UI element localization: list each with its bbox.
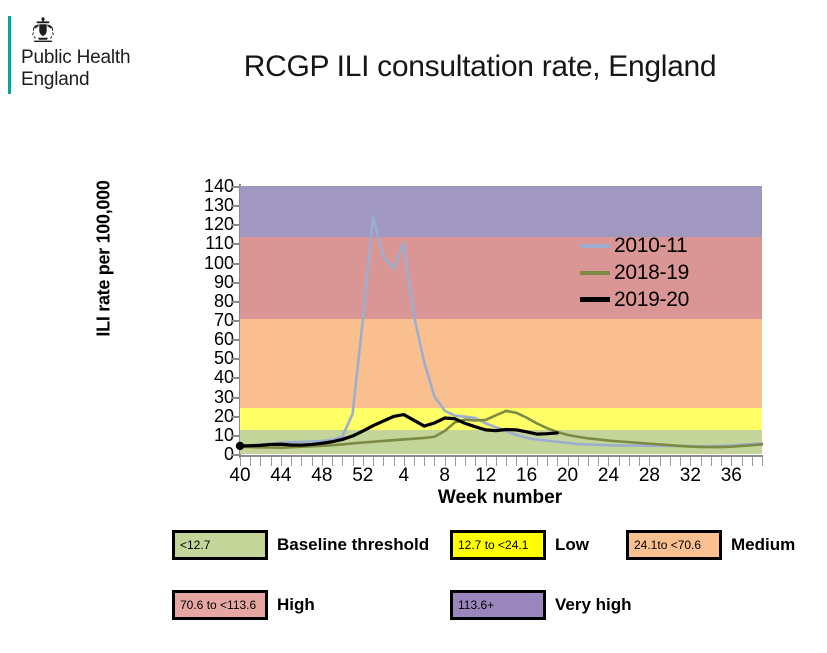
- x-axis-title: Week number: [240, 487, 760, 509]
- plot-area: [240, 186, 762, 454]
- y-tick-label: 70: [182, 311, 234, 329]
- key-range-label: 113.6+: [453, 598, 494, 612]
- key-item-medium: 24.1to <70.6Medium: [626, 530, 795, 560]
- key-name-label: Baseline threshold: [277, 535, 429, 555]
- key-name-label: Very high: [555, 595, 632, 615]
- y-tick-label: 120: [182, 215, 234, 233]
- y-tick-mark: [232, 416, 240, 418]
- y-tick-label: 110: [182, 234, 234, 252]
- y-axis-tick-labels: 1401301201101009080706050403020100: [182, 176, 234, 466]
- y-tick-label: 90: [182, 273, 234, 291]
- x-tick-label: 16: [507, 465, 547, 487]
- y-tick-mark: [232, 358, 240, 360]
- key-range-label: 24.1to <70.6: [629, 538, 701, 552]
- key-name-label: Medium: [731, 535, 795, 555]
- x-tick-label: 4: [384, 465, 424, 487]
- x-tick-label: 52: [343, 465, 383, 487]
- ili-consultation-rate-chart: ILI rate per 100,000 Week number 1401301…: [0, 0, 827, 520]
- key-swatch-high: 70.6 to <113.6: [172, 590, 268, 620]
- y-tick-label: 140: [182, 177, 234, 195]
- y-tick-mark: [232, 397, 240, 399]
- legend-swatch-2010-11: [580, 244, 610, 248]
- key-name-label: Low: [555, 535, 589, 555]
- y-tick-mark: [232, 186, 240, 188]
- y-tick-label: 130: [182, 196, 234, 214]
- y-tick-mark: [232, 377, 240, 379]
- y-axis-title: ILI rate per 100,000: [94, 149, 115, 369]
- key-swatch-low: 12.7 to <24.1: [450, 530, 546, 560]
- y-tick-mark: [232, 224, 240, 226]
- x-tick-label: 40: [220, 465, 260, 487]
- y-tick-mark: [232, 205, 240, 207]
- x-tick-label: 24: [588, 465, 628, 487]
- y-tick-mark: [232, 263, 240, 265]
- legend-swatch-2019-20: [580, 297, 610, 302]
- x-axis-line: [239, 455, 763, 457]
- y-tick-mark: [232, 435, 240, 437]
- series-layer: [240, 186, 762, 454]
- y-tick-label: 100: [182, 254, 234, 272]
- legend-item-2010-11: 2010-11: [580, 232, 750, 259]
- x-tick-label: 20: [548, 465, 588, 487]
- key-swatch-baseline-threshold: <12.7: [172, 530, 268, 560]
- key-range-label: 12.7 to <24.1: [453, 538, 528, 552]
- x-tick-label: 36: [711, 465, 751, 487]
- key-range-label: 70.6 to <113.6: [175, 598, 256, 612]
- y-tick-label: 40: [182, 368, 234, 386]
- key-item-low: 12.7 to <24.1Low: [450, 530, 589, 560]
- legend-item-2019-20: 2019-20: [580, 286, 750, 313]
- legend-item-2018-19: 2018-19: [580, 259, 750, 286]
- y-tick-mark: [232, 454, 240, 456]
- series-marker-2019-20: [236, 442, 244, 450]
- y-tick-mark: [232, 339, 240, 341]
- chart-legend: 2010-112018-192019-20: [580, 232, 750, 313]
- key-name-label: High: [277, 595, 315, 615]
- x-tick-mark: [762, 457, 763, 466]
- y-tick-label: 10: [182, 426, 234, 444]
- y-tick-mark: [232, 301, 240, 303]
- y-tick-label: 0: [182, 445, 234, 463]
- x-tick-label: 8: [425, 465, 465, 487]
- x-tick-mark: [752, 457, 753, 466]
- key-item-very-high: 113.6+Very high: [450, 590, 632, 620]
- y-tick-label: 60: [182, 330, 234, 348]
- legend-label: 2019-20: [614, 288, 689, 312]
- key-item-high: 70.6 to <113.6High: [172, 590, 315, 620]
- y-tick-label: 20: [182, 407, 234, 425]
- key-swatch-very-high: 113.6+: [450, 590, 546, 620]
- x-tick-label: 12: [466, 465, 506, 487]
- legend-label: 2018-19: [614, 261, 689, 285]
- y-tick-mark: [232, 243, 240, 245]
- y-tick-mark: [232, 320, 240, 322]
- x-tick-label: 44: [261, 465, 301, 487]
- y-tick-mark: [232, 282, 240, 284]
- x-tick-label: 28: [629, 465, 669, 487]
- y-tick-label: 50: [182, 349, 234, 367]
- legend-swatch-2018-19: [580, 271, 610, 275]
- threshold-key: <12.7Baseline threshold12.7 to <24.1Low2…: [0, 520, 827, 653]
- y-tick-label: 80: [182, 292, 234, 310]
- x-tick-label: 32: [670, 465, 710, 487]
- y-tick-label: 30: [182, 388, 234, 406]
- key-range-label: <12.7: [175, 538, 210, 552]
- key-swatch-medium: 24.1to <70.6: [626, 530, 722, 560]
- x-tick-label: 48: [302, 465, 342, 487]
- legend-label: 2010-11: [614, 234, 687, 258]
- key-item-baseline-threshold: <12.7Baseline threshold: [172, 530, 429, 560]
